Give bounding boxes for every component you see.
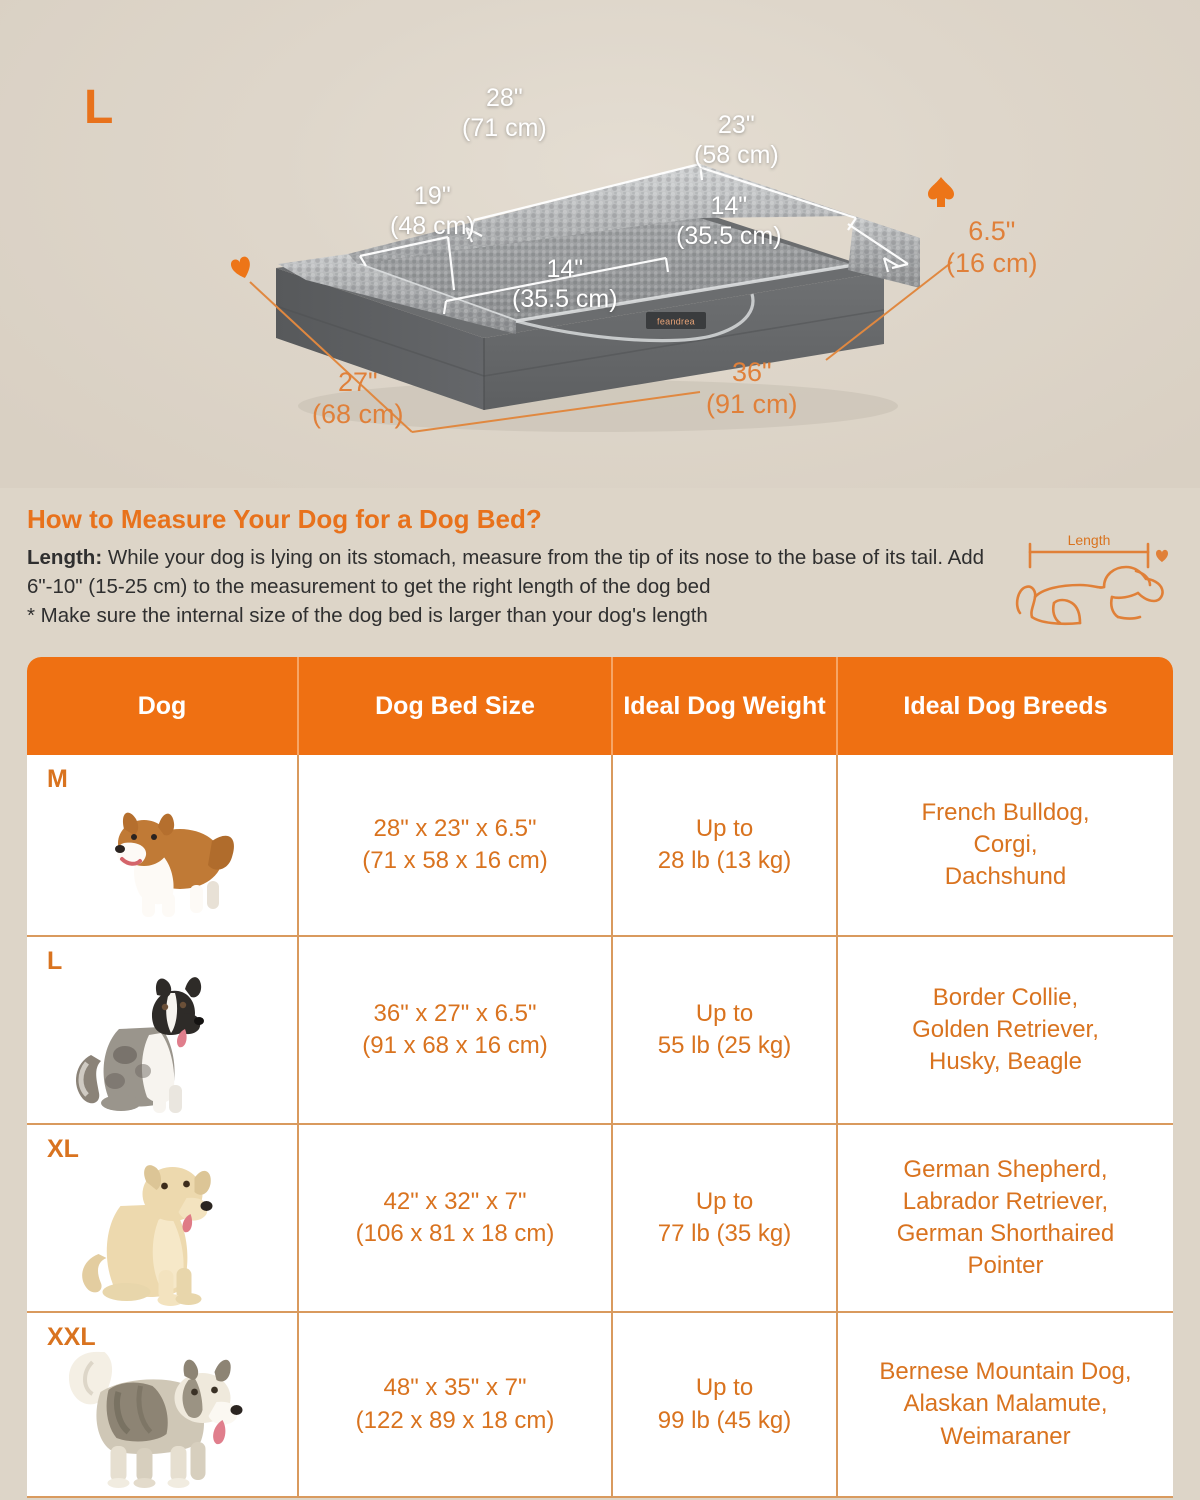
cell-weight-xl: Up to 77 lb (35 kg) [613,1125,838,1311]
weight-prefix: Up to [696,1188,753,1215]
table-row: M [27,755,1173,937]
dimension-inch: 28" [486,84,523,112]
cell-bed-size-m: 28" x 23" x 6.5" (71 x 58 x 16 cm) [299,755,613,935]
dog-length-diagram: Length [1008,527,1180,644]
bed-size-cm: (91 x 68 x 16 cm) [362,1032,547,1059]
dimension-metric: (16 cm) [946,248,1038,278]
bed-size-cm: (71 x 58 x 16 cm) [362,847,547,874]
breeds-text: German Shepherd, Labrador Retriever, Ger… [897,1154,1114,1283]
heart-icon [1156,550,1168,562]
dimension-metric: (58 cm) [694,141,779,169]
table-row: XL [27,1125,1173,1313]
dimension-label-inner-left: 19" (48 cm) [390,182,475,241]
measure-line-1: While your dog is lying on its stomach, … [27,546,984,598]
weight-prefix: Up to [696,815,753,842]
cell-dog-xxl: XXL [27,1313,299,1496]
cell-breeds-m: French Bulldog, Corgi, Dachshund [838,755,1173,935]
measure-section-title: How to Measure Your Dog for a Dog Bed? [27,504,542,535]
dimension-inch: 14" [710,192,747,220]
weight-value: 77 lb (35 kg) [658,1220,791,1247]
cell-breeds-xl: German Shepherd, Labrador Retriever, Ger… [838,1125,1173,1311]
dog-photo-malamute [45,1322,280,1492]
bed-size-cm: (106 x 81 x 18 cm) [356,1220,555,1247]
cell-dog-m: M [27,755,299,935]
size-badge-large: L [84,84,114,132]
brand-label: feandrea [646,312,706,329]
weight-value: 55 lb (25 kg) [658,1032,791,1059]
dimension-metric: (91 cm) [706,389,798,419]
measure-line-2: * Make sure the internal size of the dog… [27,604,708,627]
bed-size-inches: 36" x 27" x 6.5" [374,1000,537,1027]
breeds-text: Bernese Mountain Dog, Alaskan Malamute, … [879,1356,1131,1452]
cell-weight-l: Up to 55 lb (25 kg) [613,937,838,1123]
dimension-metric: (48 cm) [390,212,475,240]
cell-bed-size-l: 36" x 27" x 6.5" (91 x 68 x 16 cm) [299,937,613,1123]
diagram-length-label: Length [1068,532,1111,548]
dimension-label-inner-front: 14" (35.5 cm) [512,255,618,314]
header-bed-size: Dog Bed Size [299,657,613,755]
size-chart-table: Dog Dog Bed Size Ideal Dog Weight Ideal … [27,657,1173,1498]
header-dog-breeds: Ideal Dog Breeds [838,657,1173,755]
dimension-metric: (35.5 cm) [512,285,618,313]
breeds-text: Border Collie, Golden Retriever, Husky, … [912,982,1099,1078]
cell-weight-xxl: Up to 99 lb (45 kg) [613,1313,838,1496]
dimension-metric: (71 cm) [462,114,547,142]
dimension-label-inner-right: 14" (35.5 cm) [676,192,782,251]
cell-bed-size-xxl: 48" x 35" x 7" (122 x 89 x 18 cm) [299,1313,613,1496]
breeds-text: French Bulldog, Corgi, Dachshund [921,797,1089,893]
measure-section-body: Length: While your dog is lying on its s… [27,543,987,630]
bed-size-inches: 42" x 32" x 7" [384,1188,527,1215]
cell-dog-xl: XL [27,1125,299,1311]
hero-product-section: L [0,0,1200,488]
cell-bed-size-xl: 42" x 32" x 7" (106 x 81 x 18 cm) [299,1125,613,1311]
dimension-metric: (35.5 cm) [676,222,782,250]
weight-prefix: Up to [696,1000,753,1027]
dimension-label-bed-width: 36" (91 cm) [706,356,798,421]
bed-size-inches: 48" x 35" x 7" [384,1374,527,1401]
weight-prefix: Up to [696,1374,753,1401]
dimension-inch: 36" [732,357,772,387]
dog-photo-corgi [62,781,262,931]
weight-value: 28 lb (13 kg) [658,847,791,874]
dog-length-diagram-svg: Length [1008,527,1180,639]
dog-photo-labrador [55,1142,270,1307]
bed-size-cm: (122 x 89 x 18 cm) [356,1407,555,1434]
bed-size-inches: 28" x 23" x 6.5" [374,815,537,842]
dimension-inch: 23" [718,111,755,139]
header-dog: Dog [27,657,299,755]
dimension-metric: (68 cm) [312,399,404,429]
dimension-inch: 14" [546,255,583,283]
length-label: Length: [27,546,102,569]
header-dog-weight: Ideal Dog Weight [613,657,838,755]
svg-text:feandrea: feandrea [657,317,695,327]
table-row: XXL [27,1313,1173,1498]
cell-breeds-l: Border Collie, Golden Retriever, Husky, … [838,937,1173,1123]
weight-value: 99 lb (45 kg) [658,1407,791,1434]
cell-dog-l: L [27,937,299,1123]
table-row: L [27,937,1173,1125]
dog-photo-border-collie [57,959,267,1119]
dimension-label-bed-depth: 27" (68 cm) [312,366,404,431]
dimension-label-top-depth: 23" (58 cm) [694,111,779,170]
cell-weight-m: Up to 28 lb (13 kg) [613,755,838,935]
dimension-label-top-width: 28" (71 cm) [462,84,547,143]
dimension-inch: 27" [338,367,378,397]
cell-breeds-xxl: Bernese Mountain Dog, Alaskan Malamute, … [838,1313,1173,1496]
dimension-inch: 6.5" [968,216,1015,246]
table-header-row: Dog Dog Bed Size Ideal Dog Weight Ideal … [27,657,1173,755]
dimension-label-bed-height: 6.5" (16 cm) [946,215,1038,280]
dimension-inch: 19" [414,182,451,210]
